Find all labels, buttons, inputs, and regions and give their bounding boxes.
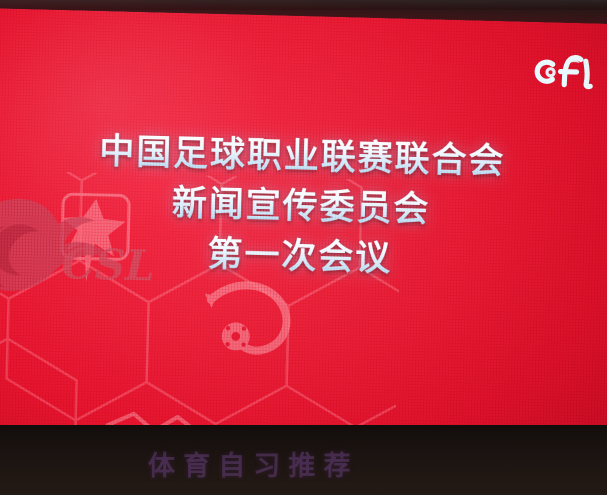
photograph: CSL xyxy=(0,0,607,495)
title-line-2: 新闻宣传委员会 xyxy=(0,178,607,236)
title-line-3: 第一次会议 xyxy=(0,228,607,286)
meeting-title-block: 中国足球职业联赛联合会 新闻宣传委员会 第一次会议 xyxy=(0,128,607,286)
csl-logo-watermark: CSL xyxy=(0,175,190,311)
led-pixel-texture xyxy=(0,8,607,486)
screen-glare xyxy=(0,8,369,286)
cfl-logo xyxy=(530,52,599,94)
ceiling-seam xyxy=(0,0,607,10)
led-screen-surface: CSL xyxy=(0,8,607,486)
led-screen-panel: CSL xyxy=(0,8,607,486)
screen-vignette xyxy=(0,8,607,486)
svg-text:CSL: CSL xyxy=(61,239,156,290)
room-wall-below-screen xyxy=(0,425,607,495)
title-line-1: 中国足球职业联赛联合会 xyxy=(0,128,607,186)
